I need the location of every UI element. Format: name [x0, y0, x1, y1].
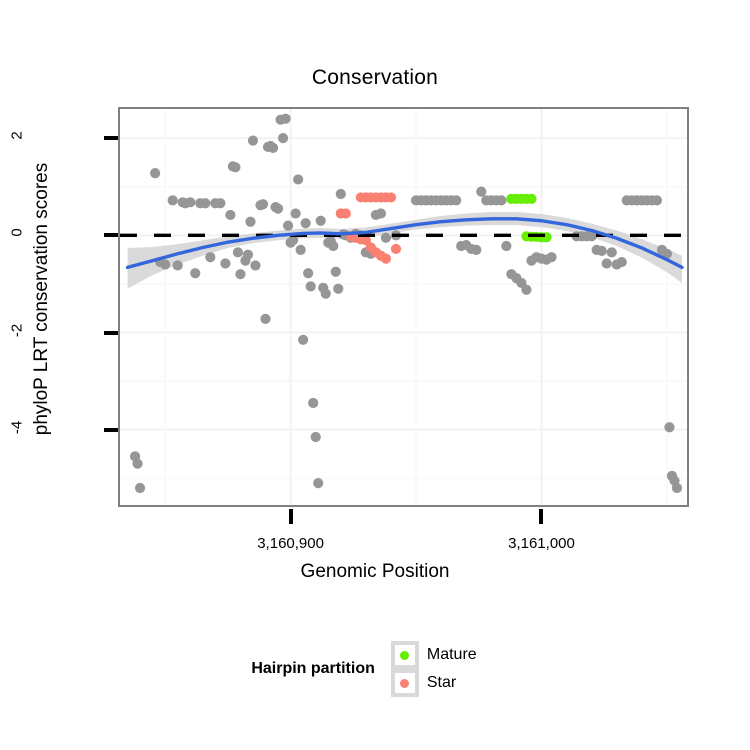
conservation-chart: Conservation phyloP LRT conservation sco…	[0, 0, 750, 750]
x-tick-mark	[539, 509, 543, 524]
y-tick-mark	[104, 233, 119, 237]
data-point	[546, 252, 556, 262]
y-tick-label: -2	[9, 310, 26, 350]
data-point	[260, 314, 270, 324]
data-point	[273, 204, 283, 214]
x-tick-label: 3,160,900	[211, 535, 371, 552]
y-tick-label: 2	[9, 116, 26, 156]
data-point	[293, 174, 303, 184]
data-point	[215, 198, 225, 208]
legend-title: Hairpin partition	[251, 660, 375, 678]
data-point	[278, 133, 288, 143]
data-point	[617, 257, 627, 267]
data-point	[471, 245, 481, 255]
data-point	[602, 258, 612, 268]
data-point	[250, 260, 260, 270]
data-point	[190, 268, 200, 278]
data-point	[652, 195, 662, 205]
x-axis-title: Genomic Position	[0, 561, 750, 583]
data-point	[168, 195, 178, 205]
data-point	[248, 135, 258, 145]
legend-dot-icon	[400, 651, 409, 660]
data-point	[296, 245, 306, 255]
data-point	[664, 422, 674, 432]
data-point	[245, 217, 255, 227]
data-point	[328, 241, 338, 251]
legend-label: Mature	[427, 646, 477, 664]
chart-title: Conservation	[0, 66, 750, 90]
legend-entries: MatureStar	[391, 641, 499, 697]
data-point	[298, 335, 308, 345]
data-point	[496, 195, 506, 205]
data-point	[333, 284, 343, 294]
y-axis-title: phyloP LRT conservation scores	[31, 89, 53, 509]
data-point	[476, 187, 486, 197]
data-point	[235, 269, 245, 279]
legend-item-mature[interactable]: Mature	[391, 641, 499, 669]
legend-label: Star	[427, 674, 456, 692]
data-point	[258, 199, 268, 209]
data-point	[381, 254, 391, 264]
data-point	[597, 246, 607, 256]
plot-canvas	[120, 109, 687, 505]
data-point	[607, 247, 617, 257]
data-point	[135, 483, 145, 493]
data-point	[303, 268, 313, 278]
data-point	[173, 260, 183, 270]
data-point	[200, 198, 210, 208]
legend-key-swatch	[391, 669, 419, 697]
data-point	[391, 244, 401, 254]
data-point	[316, 216, 326, 226]
data-point	[301, 218, 311, 228]
data-point	[268, 143, 278, 153]
legend: Hairpin partition MatureStar	[0, 641, 750, 697]
data-point	[160, 259, 170, 269]
data-point	[672, 483, 682, 493]
x-tick-label: 3,161,000	[461, 535, 621, 552]
data-point	[341, 208, 351, 218]
y-tick-mark	[104, 428, 119, 432]
plot-panel	[118, 107, 689, 507]
data-point	[376, 208, 386, 218]
series-other	[130, 114, 682, 493]
legend-dot-icon	[400, 679, 409, 688]
y-tick-mark	[104, 136, 119, 140]
data-point	[526, 194, 536, 204]
y-tick-label: -4	[9, 407, 26, 447]
data-point	[185, 197, 195, 207]
data-point	[283, 221, 293, 231]
data-point	[386, 192, 396, 202]
y-tick-mark	[104, 331, 119, 335]
x-tick-mark	[289, 509, 293, 524]
data-point	[451, 195, 461, 205]
data-point	[230, 162, 240, 172]
data-point	[291, 208, 301, 218]
data-point	[331, 267, 341, 277]
data-point	[313, 478, 323, 488]
data-point	[311, 432, 321, 442]
data-point	[321, 289, 331, 299]
data-point	[308, 398, 318, 408]
y-tick-label: 0	[9, 213, 26, 253]
data-point	[521, 285, 531, 295]
data-point	[501, 241, 511, 251]
data-point	[225, 210, 235, 220]
data-point	[205, 252, 215, 262]
data-point	[132, 459, 142, 469]
legend-key-swatch	[391, 641, 419, 669]
data-point	[280, 114, 290, 124]
data-point	[220, 258, 230, 268]
data-point	[336, 189, 346, 199]
data-point	[233, 247, 243, 257]
data-point	[243, 250, 253, 260]
data-point	[150, 168, 160, 178]
data-point	[306, 281, 316, 291]
data-point	[381, 233, 391, 243]
legend-item-star[interactable]: Star	[391, 669, 499, 697]
